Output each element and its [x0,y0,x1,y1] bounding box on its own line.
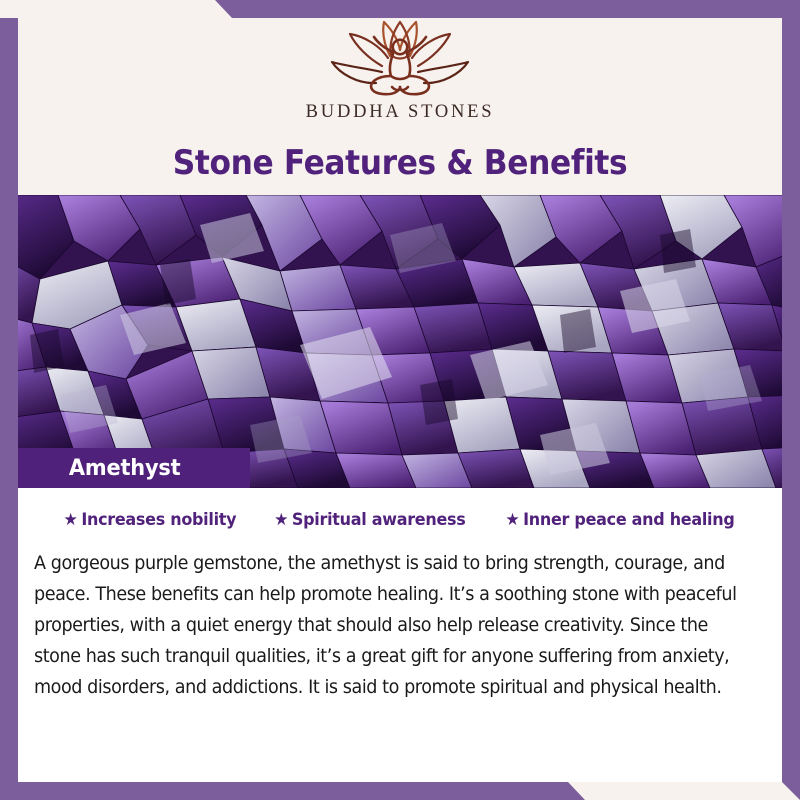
page-title: Stone Features & Benefits [32,143,768,183]
star-icon: ★ [64,512,78,529]
stone-photo [0,195,800,488]
benefit-item-2: ★ Spiritual awareness [274,510,465,530]
benefit-item-1: ★ Increases nobility [64,510,237,530]
header-section: BUDDHA STONES Stone Features & Benefits [0,0,800,195]
brand-wordmark: BUDDHA STONES [306,102,495,123]
amethyst-crystal-texture [0,195,800,488]
stone-name-banner: Amethyst [18,448,250,488]
star-icon: ★ [274,512,288,529]
product-info-card: BUDDHA STONES Stone Features & Benefits [0,0,800,800]
benefit-label-3: Inner peace and healing [523,510,734,530]
benefit-label-2: Spiritual awareness [292,510,466,530]
benefit-label-1: Increases nobility [82,510,237,530]
content-section: ★ Increases nobility ★ Spiritual awarene… [18,488,782,782]
stone-name-label: Amethyst [69,456,181,481]
stone-description: A gorgeous purple gemstone, the amethyst… [34,548,741,703]
lotus-meditation-icon [324,16,476,100]
benefit-item-3: ★ Inner peace and healing [505,510,734,530]
star-icon: ★ [505,512,519,529]
brand-logo-block: BUDDHA STONES [0,16,800,123]
benefits-list: ★ Increases nobility ★ Spiritual awarene… [18,510,782,530]
